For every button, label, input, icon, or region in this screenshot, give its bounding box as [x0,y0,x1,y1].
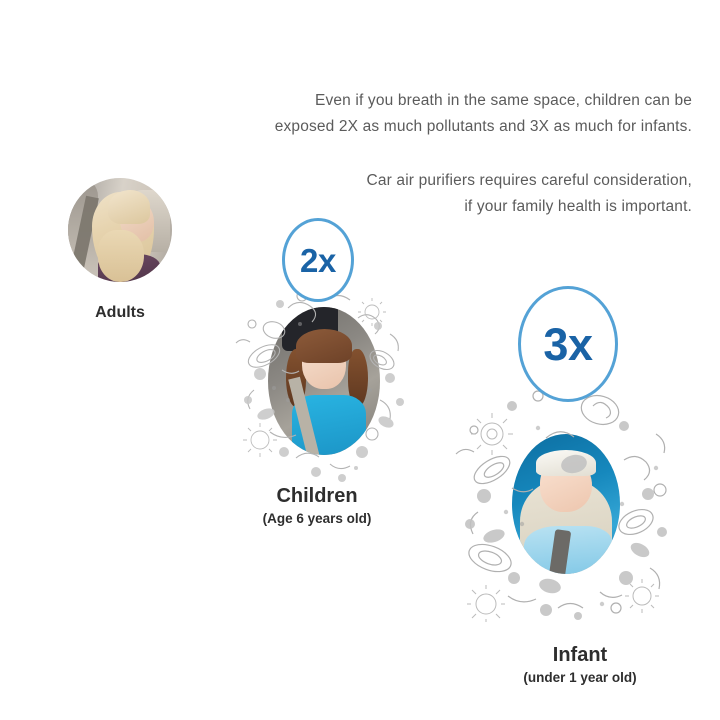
infant-label-sub: (under 1 year old) [430,670,720,686]
children-photo [268,307,380,455]
group-adults: Adults [68,178,172,282]
children-label-sub: (Age 6 years old) [167,511,467,527]
adults-label: Adults [0,304,270,323]
intro-copy-line-2: exposed 2X as much pollutants and 3X as … [275,114,692,140]
advice-copy-block: Car air purifiers requires careful consi… [367,168,692,220]
baby-cap-shape [536,450,596,476]
adults-photo [68,178,172,282]
children-label-title: Children [167,485,467,509]
intro-copy-block: Even if you breath in the same space, ch… [275,88,692,140]
infant-label-title: Infant [430,644,720,668]
multiplier-badge-2x: 2x [282,218,354,302]
advice-copy-line-1: Car air purifiers requires careful consi… [367,168,692,194]
intro-copy-line-1: Even if you breath in the same space, ch… [275,88,692,114]
child-hair-shape [296,329,352,363]
infant-photo [512,434,620,574]
hair-curl-shape [98,230,144,282]
adults-label-title: Adults [0,304,270,323]
advice-copy-line-2: if your family health is important. [367,194,692,220]
infant-label: Infant (under 1 year old) [430,644,720,686]
multiplier-badge-3x: 3x [518,286,618,402]
hair-front-shape [108,190,150,224]
multiplier-badge-2x-text: 2x [300,244,336,277]
multiplier-badge-3x-text: 3x [543,322,592,367]
infographic-canvas: Even if you breath in the same space, ch… [0,0,720,720]
children-label: Children (Age 6 years old) [167,485,467,527]
